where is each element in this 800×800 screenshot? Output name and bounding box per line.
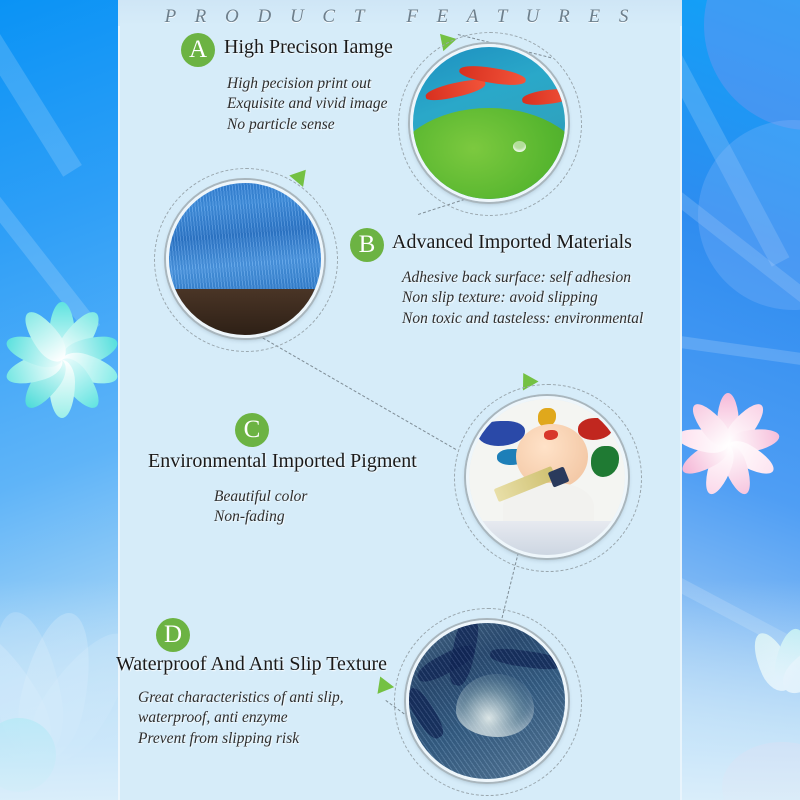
badge-letter-a: A <box>181 33 215 67</box>
heading-d: Waterproof And Anti Slip Texture <box>116 653 387 676</box>
baby-painting-photo <box>466 396 628 558</box>
koi-fish-pond-photo <box>410 44 568 202</box>
paint-on-forehead <box>544 430 558 439</box>
bullets-d: Great characteristics of anti slip, wate… <box>138 688 344 749</box>
badge-letter-c: C <box>235 413 269 447</box>
decorative-band <box>678 330 800 378</box>
page-title: P R O D U C T F E A T U R E S <box>118 6 682 28</box>
flower-petal <box>775 636 800 701</box>
bullets-a: High pecision print out Exquisite and vi… <box>227 74 388 135</box>
circle-ornament <box>722 742 800 800</box>
flower-petal <box>746 627 799 696</box>
heading-c: Environmental Imported Pigment <box>148 450 417 473</box>
decorative-band <box>0 0 82 177</box>
table-surface <box>169 289 321 335</box>
heading-a: High Precison Iamge <box>224 36 393 59</box>
photo-inner-a <box>413 47 565 199</box>
heading-b: Advanced Imported Materials <box>392 231 632 254</box>
connector-line-b-c <box>250 330 457 450</box>
flower-petal <box>13 618 122 778</box>
photo-inner-d <box>409 623 565 779</box>
decorative-band <box>678 560 800 704</box>
lily-pad <box>410 108 568 202</box>
water-droplet-texture-photo <box>406 620 568 782</box>
circle-ornament <box>0 718 56 792</box>
photo-inner-b <box>169 183 321 335</box>
arrow-marker-d <box>372 673 394 694</box>
flower-petal <box>9 607 103 767</box>
flower-petal <box>0 614 68 776</box>
flower-petal <box>771 626 800 692</box>
badge-letter-b: B <box>350 228 384 262</box>
product-features-poster: P R O D U C T F E A T U R E S A High Pre… <box>0 0 800 800</box>
right-decorative-border <box>678 0 800 800</box>
circle-ornament <box>704 0 800 130</box>
content-panel: P R O D U C T F E A T U R E S A High Pre… <box>118 0 682 800</box>
bullets-b: Adhesive back surface: self adhesion Non… <box>402 268 643 329</box>
photo-inner-c <box>469 399 625 555</box>
left-decorative-border <box>0 0 122 800</box>
blue-fabric-material-photo <box>166 180 324 338</box>
flower-petal <box>0 607 72 766</box>
bullets-c: Beautiful color Non-fading <box>214 487 307 528</box>
badge-letter-d: D <box>156 618 190 652</box>
painted-floor <box>469 521 625 555</box>
water-droplet <box>456 674 534 736</box>
